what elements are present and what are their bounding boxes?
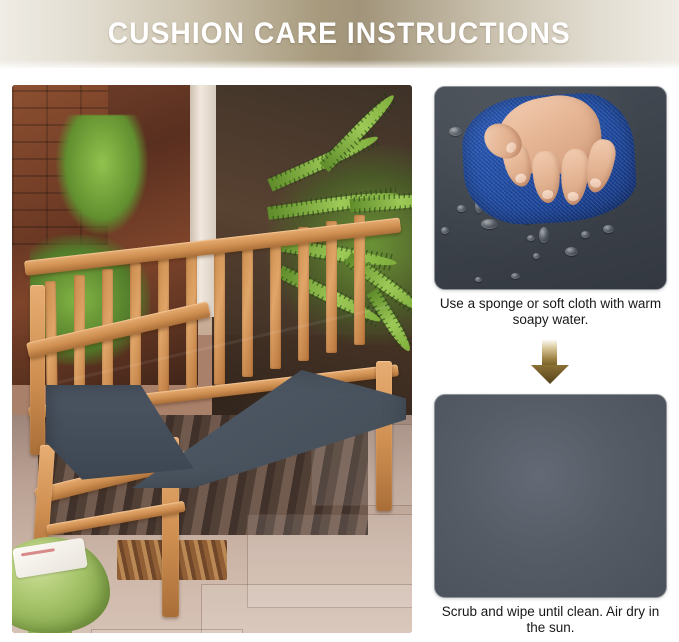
bench-back-slat — [214, 245, 225, 385]
water-droplet — [603, 225, 614, 233]
water-droplet — [449, 127, 462, 136]
fingernail — [589, 177, 602, 188]
bench-top-rail — [24, 218, 401, 276]
finger-ring — [531, 150, 562, 204]
fingernail — [514, 173, 527, 184]
cushion-care-instructions-infographic: CUSHION CARE INSTRUCTIONS — [0, 0, 679, 642]
bench-left-post — [30, 285, 45, 455]
bench-back-slat — [158, 257, 169, 401]
water-droplet — [511, 273, 520, 279]
down-arrow-icon — [528, 339, 572, 384]
fingernail — [567, 192, 579, 202]
arrow-stem — [542, 339, 557, 367]
magazine-text-line — [21, 548, 55, 556]
page-title: CUSHION CARE INSTRUCTIONS — [108, 17, 571, 51]
arrow-head — [531, 365, 569, 384]
step-image-wiping — [434, 86, 667, 290]
water-droplet — [481, 219, 498, 229]
hand — [491, 91, 627, 199]
header-fade-divider — [0, 60, 679, 74]
water-droplet — [527, 235, 535, 241]
water-droplet — [441, 227, 449, 234]
header-banner: CUSHION CARE INSTRUCTIONS — [0, 0, 679, 68]
water-droplet — [457, 205, 466, 212]
water-droplet — [581, 231, 590, 238]
water-droplet — [565, 247, 578, 256]
bench-back-slat — [242, 239, 253, 377]
fingernail — [542, 190, 554, 200]
water-droplet — [539, 227, 549, 243]
finger-middle — [559, 148, 590, 206]
step-caption-drying: Scrub and wipe until clean. Air dry in t… — [434, 604, 667, 636]
water-droplet — [533, 253, 540, 259]
step-caption-wiping: Use a sponge or soft cloth with warm soa… — [434, 296, 667, 328]
bench-back-slat — [270, 233, 281, 369]
step-image-clean-fabric — [434, 394, 667, 598]
bench-back-slat — [298, 227, 309, 361]
hero-image-bench: EASY TO CLEAN — [12, 85, 412, 633]
fingernail — [504, 140, 518, 154]
bench-rear-leg-right — [376, 361, 392, 511]
water-droplet — [475, 277, 482, 282]
